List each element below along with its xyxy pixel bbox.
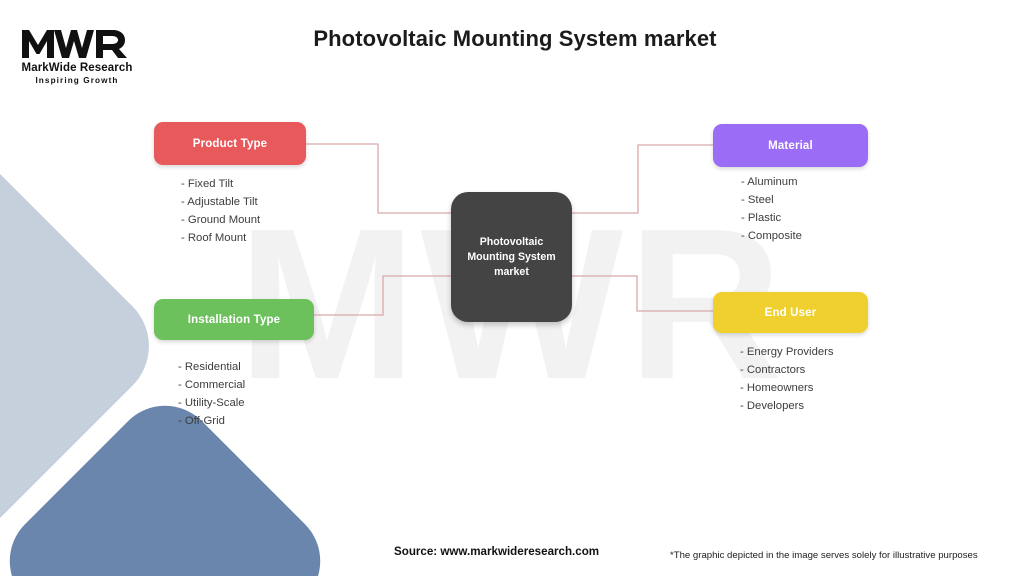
list-item: - Contractors (740, 361, 834, 379)
center-line-1: Photovoltaic (467, 235, 555, 250)
node-end-user-label: End User (765, 307, 817, 319)
node-center-market[interactable]: Photovoltaic Mounting System market (451, 192, 572, 322)
list-installation-type: - Residential - Commercial - Utility-Sca… (178, 358, 245, 430)
list-item: - Roof Mount (181, 229, 260, 247)
list-item: - Composite (741, 227, 802, 245)
list-material: - Aluminum - Steel - Plastic - Composite (741, 173, 802, 245)
connector-material (568, 145, 713, 213)
node-product-type[interactable]: Product Type (154, 122, 306, 165)
list-item: - Off-Grid (178, 412, 245, 430)
list-item: - Ground Mount (181, 211, 260, 229)
disclaimer-text: *The graphic depicted in the image serve… (670, 550, 978, 561)
connector-product-type (306, 144, 455, 213)
source-text: Source: www.markwideresearch.com (394, 545, 599, 558)
node-installation-type[interactable]: Installation Type (154, 299, 314, 340)
node-material-label: Material (768, 140, 813, 152)
list-item: - Steel (741, 191, 802, 209)
list-item: - Plastic (741, 209, 802, 227)
list-product-type: - Fixed Tilt - Adjustable Tilt - Ground … (181, 175, 260, 247)
list-item: - Utility-Scale (178, 394, 245, 412)
list-item: - Developers (740, 397, 834, 415)
list-item: - Aluminum (741, 173, 802, 191)
center-line-2: Mounting System (467, 250, 555, 265)
node-material[interactable]: Material (713, 124, 868, 167)
list-item: - Adjustable Tilt (181, 193, 260, 211)
center-line-3: market (467, 265, 555, 280)
list-item: - Residential (178, 358, 245, 376)
node-end-user[interactable]: End User (713, 292, 868, 333)
list-item: - Commercial (178, 376, 245, 394)
connector-installation-type (314, 276, 455, 315)
diagram-canvas: MWR MarkWide Research Inspiring Growth P… (0, 0, 1024, 576)
list-item: - Energy Providers (740, 343, 834, 361)
connector-end-user (568, 276, 713, 311)
node-product-type-label: Product Type (193, 138, 267, 150)
list-item: - Homeowners (740, 379, 834, 397)
node-installation-type-label: Installation Type (188, 314, 280, 326)
list-end-user: - Energy Providers - Contractors - Homeo… (740, 343, 834, 415)
list-item: - Fixed Tilt (181, 175, 260, 193)
